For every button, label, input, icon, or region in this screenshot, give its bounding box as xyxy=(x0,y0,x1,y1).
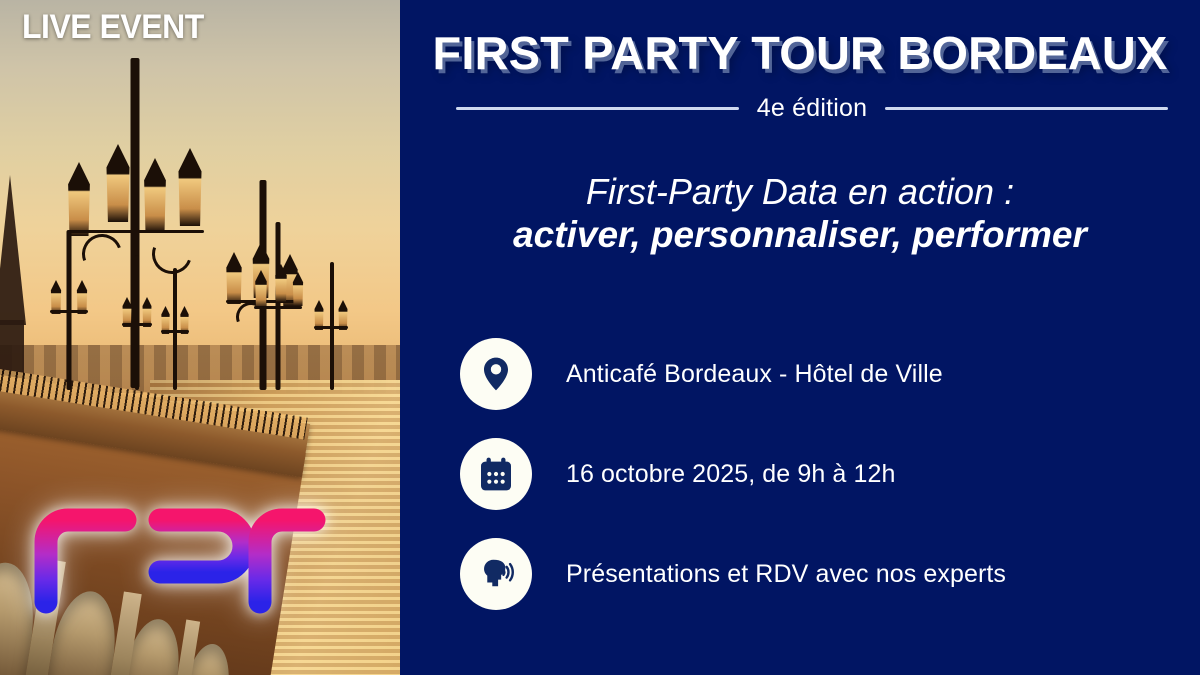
subtitle-line-2: activer, personnaliser, performer xyxy=(400,214,1200,255)
calendar-icon xyxy=(460,438,532,510)
event-banner: LIVE EVENT xyxy=(0,0,1200,675)
speaking-head-icon xyxy=(460,538,532,610)
detail-row-date: 16 octobre 2025, de 9h à 12h xyxy=(460,438,1180,510)
fps-logo xyxy=(30,498,330,618)
bordeaux-bridge-photo: LIVE EVENT xyxy=(0,0,400,675)
divider-left xyxy=(456,107,739,110)
detail-row-location: Anticafé Bordeaux - Hôtel de Ville xyxy=(460,338,1180,410)
lamp-post-icon xyxy=(250,222,306,390)
subtitle: First-Party Data en action : activer, pe… xyxy=(400,172,1200,256)
live-event-badge: LIVE EVENT xyxy=(22,8,204,47)
edition-row: 4e édition xyxy=(456,94,1168,123)
detail-row-talks: Présentations et RDV avec nos experts xyxy=(460,538,1180,610)
subtitle-line-1: First-Party Data en action : xyxy=(400,172,1200,212)
content-panel: FIRST PARTY TOUR BORDEAUX 4e édition Fir… xyxy=(400,0,1200,675)
edition-label: 4e édition xyxy=(757,94,867,123)
lamp-post-icon xyxy=(310,262,354,390)
event-details-list: Anticafé Bordeaux - Hôtel de Ville xyxy=(460,338,1180,638)
lamp-post-icon xyxy=(158,268,192,390)
detail-text-location: Anticafé Bordeaux - Hôtel de Ville xyxy=(566,360,1180,389)
page-title: FIRST PARTY TOUR BORDEAUX xyxy=(392,26,1200,80)
divider-right xyxy=(885,107,1168,110)
lamp-post-icon xyxy=(118,255,156,390)
detail-text-talks: Présentations et RDV avec nos experts xyxy=(566,560,1180,589)
detail-text-date: 16 octobre 2025, de 9h à 12h xyxy=(566,460,1180,489)
lamp-post-icon xyxy=(46,230,92,390)
location-pin-icon xyxy=(460,338,532,410)
cathedral-spire-icon xyxy=(0,175,26,325)
